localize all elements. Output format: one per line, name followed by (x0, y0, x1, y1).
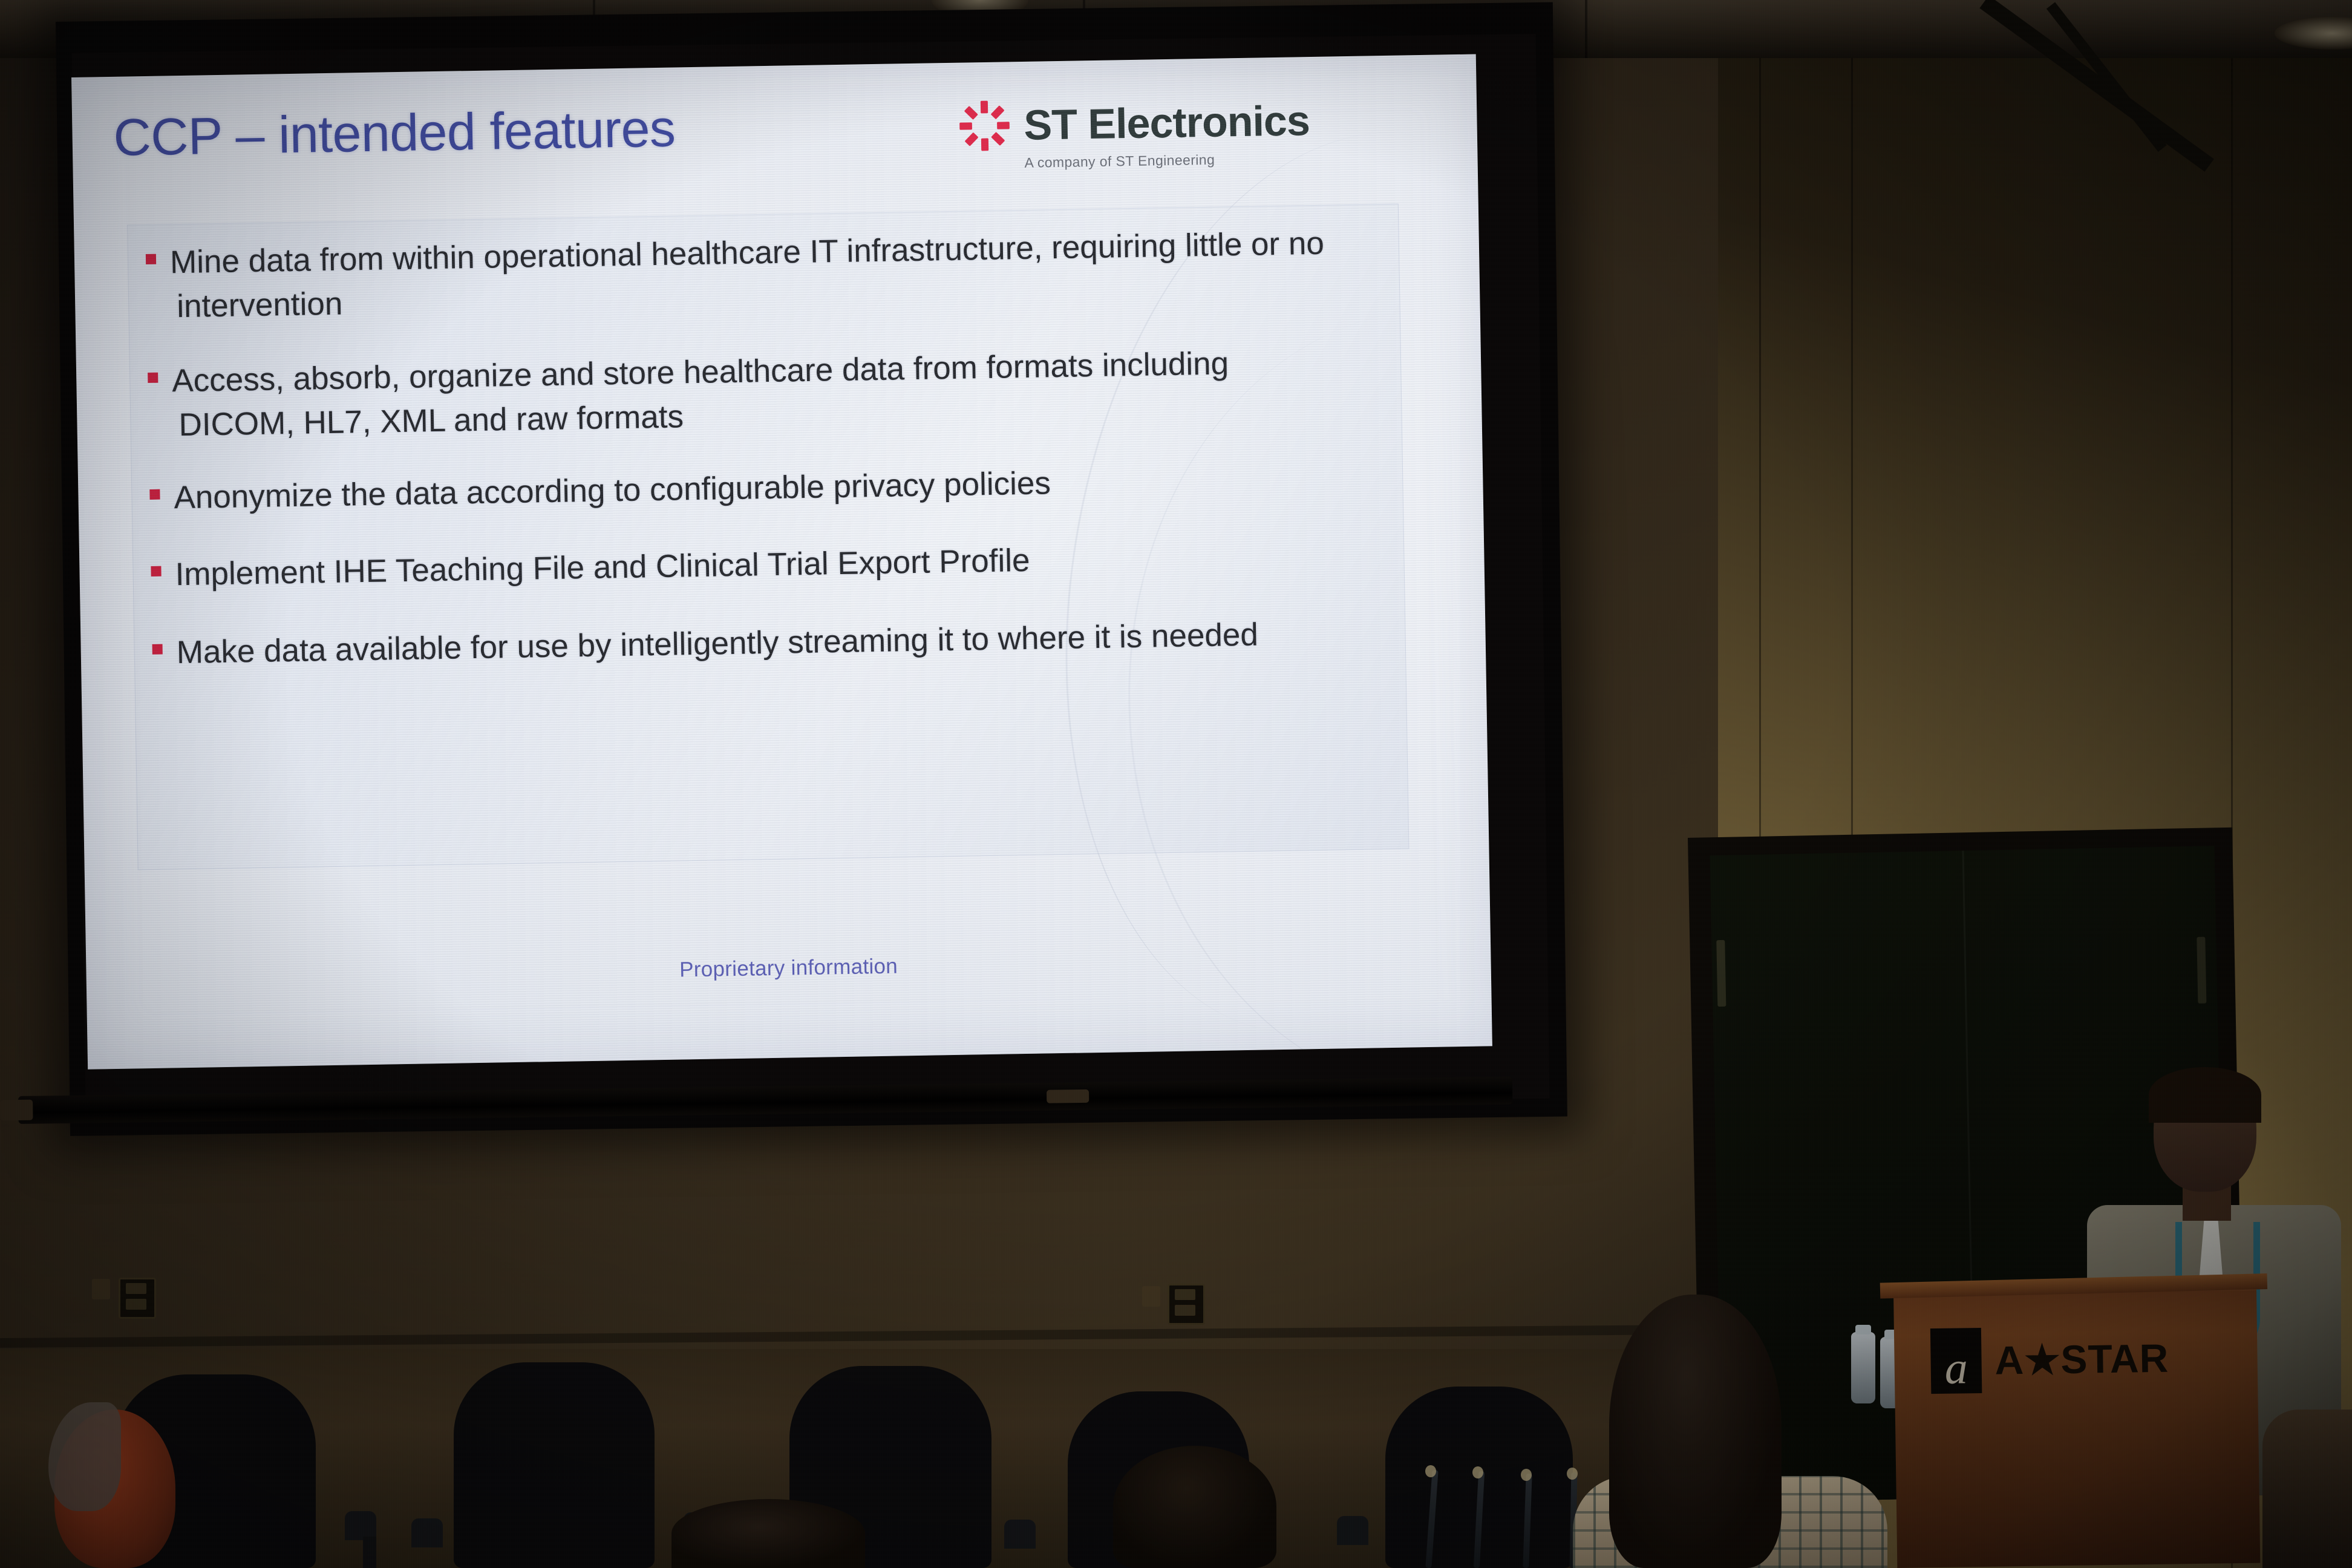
audience-head-mid (671, 1499, 865, 1568)
chair-arm (411, 1518, 443, 1547)
screen-roller-knob-left (0, 1100, 33, 1121)
ceiling-panel-line-3 (1585, 0, 1587, 58)
foreground-arm (2262, 1410, 2352, 1568)
bullet-square-icon (151, 566, 161, 576)
screen-roller-knob-right (1047, 1089, 1089, 1103)
bullet-square-icon (149, 489, 160, 499)
chair[interactable] (454, 1362, 655, 1568)
chair-arm (1004, 1520, 1036, 1549)
list-item: Access, absorb, organize and store healt… (143, 339, 1402, 448)
wall-plate-left (92, 1279, 110, 1299)
astar-word-a: A (1994, 1337, 2025, 1382)
wall-outlet-left (119, 1278, 156, 1319)
chair-leg (363, 1537, 376, 1568)
bullet-line: Implement IHE Teaching File and Clinical… (175, 532, 1405, 596)
astar-logo: a A★STAR (1930, 1325, 2169, 1394)
bullet-line: Anonymize the data according to configur… (174, 455, 1403, 520)
slide-bullet-list: Mine data from within operational health… (140, 220, 1406, 705)
microphone-tip (1425, 1465, 1436, 1477)
microphone-tip (1472, 1466, 1483, 1478)
list-item: Implement IHE Teaching File and Clinical… (146, 532, 1405, 597)
bullet-square-icon (146, 254, 156, 264)
bullet-square-icon (152, 644, 163, 654)
list-item: Anonymize the data according to configur… (145, 455, 1403, 520)
list-item: Make data available for use by intellige… (147, 610, 1406, 675)
astar-a-glyph: a (1930, 1347, 1982, 1390)
door-handle-right[interactable] (2197, 937, 2206, 1004)
bottle-cap-1 (1855, 1325, 1871, 1334)
chair-arm (1337, 1516, 1368, 1545)
astar-star-icon: ★ (2024, 1337, 2061, 1382)
speaker-hair (2149, 1067, 2261, 1123)
audience-head-center (1113, 1446, 1276, 1568)
wall-plate-center (1142, 1286, 1160, 1307)
door-handle-upper[interactable] (1716, 940, 1726, 1007)
astar-a-mark-icon: a (1930, 1328, 1982, 1394)
slide-title: CCP – intended features (113, 99, 676, 168)
audience-head-right (1609, 1295, 1782, 1568)
astar-wordmark: A★STAR (1994, 1334, 2169, 1383)
photo-scene: CCP – intended features (0, 0, 2352, 1568)
microphone-tip (1567, 1468, 1578, 1480)
bullet-line: Make data available for use by intellige… (176, 610, 1406, 675)
st-electronics-starburst-icon (958, 99, 1011, 152)
st-electronics-logo: ST Electronics A company of ST Engineeri… (958, 93, 1419, 172)
chair-arm (345, 1511, 376, 1540)
podium-lectern: a A★STAR (1893, 1287, 2260, 1568)
astar-word-star: STAR (2060, 1335, 2169, 1381)
st-electronics-logo-name: ST Electronics (1024, 96, 1310, 149)
wall-outlet-center (1168, 1284, 1205, 1325)
water-bottle-1 (1851, 1332, 1875, 1403)
presentation-slide: CCP – intended features (71, 54, 1492, 1070)
microphone-tip (1521, 1469, 1532, 1481)
bullet-square-icon (148, 373, 158, 383)
